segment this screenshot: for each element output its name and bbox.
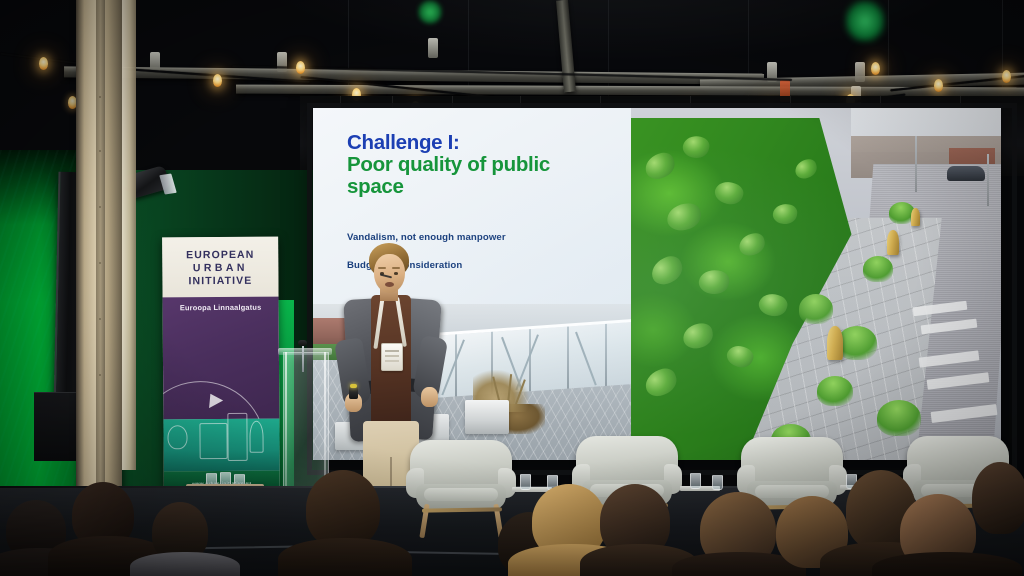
slide-title-line1: Challenge I: [347, 132, 615, 154]
roll-up-banner: EUROPEAN URBAN INITIATIVE Euroopa Linnaa… [162, 237, 280, 490]
face [374, 254, 405, 293]
yellow-bollard [911, 208, 920, 226]
banner-bulb-icon [167, 425, 187, 449]
parked-car [947, 166, 985, 181]
rigging-clamp [855, 62, 865, 82]
weed-clump [817, 376, 853, 406]
string-light-bulb [871, 62, 880, 75]
string-light-bulb [39, 57, 48, 70]
string-light-bulb [296, 61, 305, 74]
weed-clump [799, 294, 833, 324]
weed-clump [837, 326, 877, 360]
hand-right [421, 387, 438, 407]
yellow-bollard [827, 326, 843, 360]
weed-clump [863, 256, 893, 282]
concrete-planter [465, 400, 509, 434]
banner-building-icon [227, 413, 247, 461]
banner-title: EUROPEAN URBAN INITIATIVE [162, 249, 278, 289]
utility-pole [987, 154, 989, 206]
banner-header-panel: EUROPEAN URBAN INITIATIVE [162, 237, 278, 298]
banner-purple-panel: Euroopa Linnaalgatus [163, 297, 280, 420]
microphone [298, 340, 307, 346]
water-glass [520, 474, 531, 490]
conference-photo-scene: EUROPEAN URBAN INITIATIVE Euroopa Linnaa… [0, 0, 1024, 576]
audience-member [306, 470, 380, 548]
banner-teal-panel [163, 419, 279, 472]
utility-pole [915, 136, 917, 192]
wooden-pillar-edge [96, 0, 105, 492]
rigging-clamp [277, 52, 287, 72]
microphone-stand [302, 344, 304, 372]
water-glass [712, 475, 723, 490]
clicker-led [350, 384, 357, 388]
audience-member [972, 462, 1024, 534]
yellow-bollard [887, 230, 899, 255]
green-accent-light [845, 0, 885, 42]
wooden-pillar [122, 0, 136, 470]
weed-clump [877, 400, 921, 436]
banner-building-icon [199, 423, 227, 459]
slide-title-line2: Poor quality of public [347, 154, 615, 176]
banner-tree-icon [249, 421, 263, 453]
banner-title-line1: EUROPEAN [186, 249, 254, 261]
mouth [385, 282, 394, 287]
string-light-bulb [1002, 70, 1011, 83]
name-badge [381, 343, 403, 371]
string-light-bulb [934, 79, 943, 92]
banner-title-line3: INITIATIVE [188, 275, 252, 287]
banner-title-line2: URBAN [193, 262, 248, 274]
slide-title-line3: space [347, 176, 615, 198]
slide-bullet-1: Vandalism, not enough manpower [347, 232, 627, 243]
water-glass [690, 473, 701, 489]
stage-armchair [406, 440, 516, 536]
banner-subtitle: Euroopa Linnaalgatus [163, 303, 279, 313]
green-accent-light [418, 0, 442, 24]
audience-member [130, 552, 240, 576]
rigging-clamp [428, 38, 438, 58]
slide-photo-street [631, 108, 1001, 460]
audience-member [278, 538, 412, 576]
slide-title: Challenge I: Poor quality of public spac… [347, 132, 615, 198]
string-light-bulb [213, 74, 222, 87]
audience-member [872, 552, 1022, 576]
